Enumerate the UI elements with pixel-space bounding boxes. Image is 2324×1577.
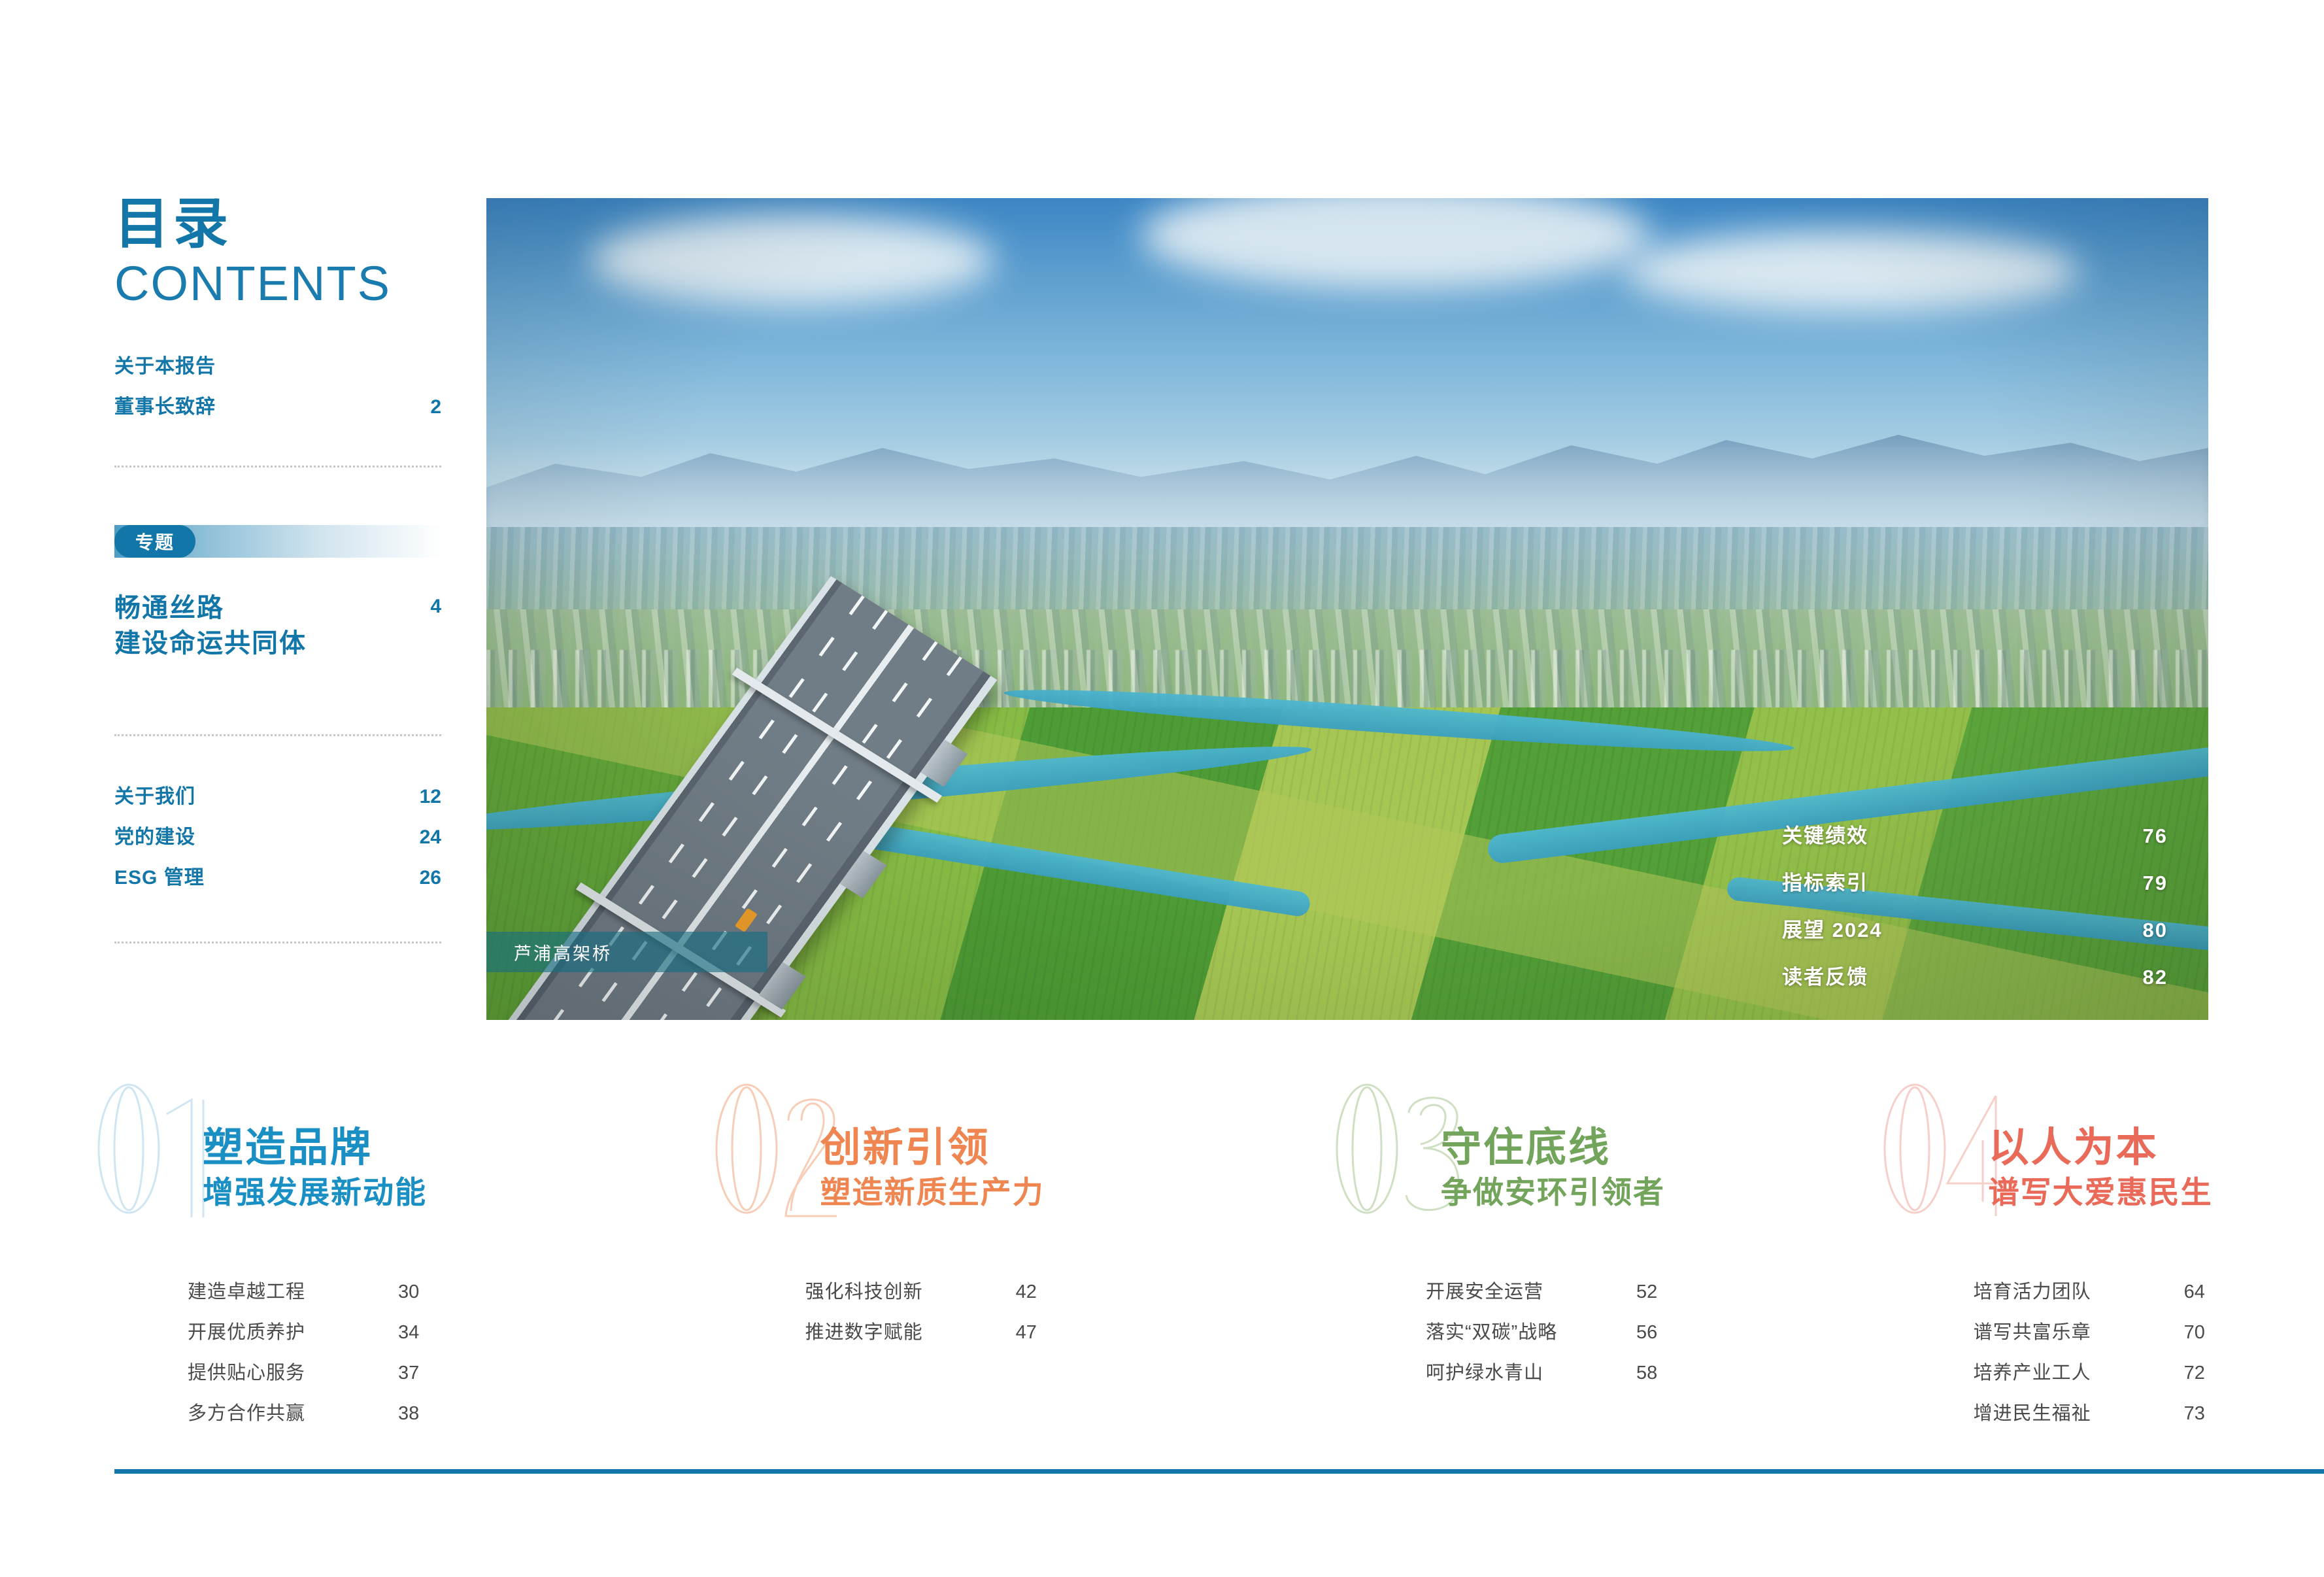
chapter-title: 塑造品牌 [203,1126,732,1171]
chapter-item-page: 72 [2184,1364,2205,1383]
topic-entry-lines: 畅通丝路 建设命运共同体 [114,590,307,661]
toc-entry-esg-management[interactable]: ESG 管理 26 [114,868,441,888]
chapter-item-page: 70 [2184,1323,2205,1342]
hero-entry-reader-feedback[interactable]: 读者反馈 82 [1782,960,2168,990]
chapter-title: 以人为本 [1989,1126,2265,1171]
hero-entry-label: 指标索引 [1782,866,1868,896]
toc-divider [114,734,441,736]
hero-entry-index[interactable]: 指标索引 79 [1782,866,2168,896]
chapter-item-label: 提供贴心服务 [188,1364,398,1383]
chapter-item[interactable]: 开展优质养护 34 [188,1323,732,1342]
toc-entry-chairman-message[interactable]: 董事长致辞 2 [114,398,441,417]
chapter-grid: 塑造品牌 增强发展新动能 建造卓越工程 30 开展优质养护 34 提供贴心服务 … [114,1085,2265,1445]
chapter-block-01: 塑造品牌 增强发展新动能 建造卓越工程 30 开展优质养护 34 提供贴心服务 … [114,1085,732,1445]
hero-entry-outlook-2024[interactable]: 展望 2024 80 [1782,913,2168,943]
toc-entry-label: ESG 管理 [114,868,205,888]
chapter-item[interactable]: 推进数字赋能 47 [805,1323,1353,1342]
toc-entry-about-report[interactable]: 关于本报告 [114,357,441,377]
chapter-item-label: 推进数字赋能 [805,1323,1016,1342]
chapter-item-label: 落实“双碳”战略 [1426,1323,1636,1342]
photo-caption-text: 芦浦高架桥 [514,940,612,965]
topic-entry-line1: 畅通丝路 [114,590,307,626]
chapter-item-page: 58 [1636,1364,1657,1383]
chapter-item[interactable]: 多方合作共赢 38 [188,1404,732,1423]
chapter-block-04: 以人为本 谱写大爱惠民生 培育活力团队 64 谱写共富乐章 70 培养产业工人 … [1900,1085,2265,1445]
hero-entry-label: 读者反馈 [1782,960,1868,990]
page-title-cn: 目录 [114,196,441,254]
chapter-item-label: 开展安全运营 [1426,1283,1636,1302]
chapter-subtitle: 争做安环引领者 [1441,1175,1900,1212]
toc-entry-page: 24 [420,828,441,847]
chapter-item-label: 强化科技创新 [805,1283,1016,1302]
chapter-item-page: 52 [1636,1283,1657,1302]
hero-entry-page: 76 [2143,824,2168,848]
chapter-item-page: 73 [2184,1404,2205,1423]
hero-entry-label: 展望 2024 [1782,913,1883,943]
chapter-item[interactable]: 培养产业工人 72 [1974,1364,2265,1383]
chapter-item-page: 37 [398,1364,419,1383]
chapter-item-list-02: 强化科技创新 42 推进数字赋能 47 [732,1283,1353,1342]
chapter-item-label: 开展优质养护 [188,1323,398,1342]
page-title-en: CONTENTS [114,258,441,310]
chapter-subtitle: 塑造新质生产力 [820,1175,1353,1212]
chapter-subtitle: 谱写大爱惠民生 [1989,1175,2265,1212]
chapter-heading-02: 创新引领 塑造新质生产力 [732,1085,1353,1212]
chapter-item-label: 培育活力团队 [1974,1283,2184,1302]
cloud-shape [1623,231,2080,313]
chapter-item-list-03: 开展安全运营 52 落实“双碳”战略 56 呵护绿水青山 58 [1353,1283,1900,1383]
chapter-item-page: 30 [398,1283,419,1302]
chapter-item-page: 34 [398,1323,419,1342]
special-topic-badge: 专题 [114,525,441,563]
chapter-item-label: 多方合作共赢 [188,1404,398,1423]
chapter-item-page: 47 [1016,1323,1037,1342]
toc-entry-label: 关于我们 [114,787,195,807]
toc-entry-about-us[interactable]: 关于我们 12 [114,787,441,807]
chapter-heading-04: 以人为本 谱写大爱惠民生 [1900,1085,2265,1212]
chapter-title: 创新引领 [820,1126,1353,1171]
toc-entry-special-topic[interactable]: 畅通丝路 建设命运共同体 4 [114,590,441,661]
topic-pill-label: 专题 [114,525,195,558]
chapter-item[interactable]: 增进民生福祉 73 [1974,1404,2265,1423]
chapter-item-list-04: 培育活力团队 64 谱写共富乐章 70 培养产业工人 72 增进民生福祉 73 [1900,1283,2265,1423]
toc-entry-label: 董事长致辞 [114,398,216,417]
toc-top-group: 关于本报告 董事长致辞 2 [114,357,441,417]
chapter-item[interactable]: 开展安全运营 52 [1426,1283,1900,1302]
hero-entry-page: 80 [2143,919,2168,942]
chapter-item-page: 38 [398,1404,419,1423]
cloud-shape [590,214,995,306]
chapter-title: 守住底线 [1441,1126,1900,1171]
chapter-item-label: 谱写共富乐章 [1974,1323,2184,1342]
toc-entry-page: 12 [420,787,441,807]
table-of-contents: 目录 CONTENTS 关于本报告 董事长致辞 2 专题 畅通丝路 建设命运共同… [114,196,441,943]
toc-entry-page: 26 [420,868,441,888]
hero-entry-label: 关键绩效 [1782,819,1868,849]
chapter-item-label: 建造卓越工程 [188,1283,398,1302]
toc-entry-page: 2 [430,398,441,417]
chapter-subtitle: 增强发展新动能 [203,1175,732,1212]
chapter-item[interactable]: 建造卓越工程 30 [188,1283,732,1302]
chapter-item-page: 64 [2184,1283,2205,1302]
hero-overlay-toc-list: 关键绩效 76 指标索引 79 展望 2024 80 读者反馈 82 [1782,819,2168,990]
chapter-item[interactable]: 培育活力团队 64 [1974,1283,2265,1302]
hero-entry-page: 82 [2143,966,2168,989]
topic-entry-page: 4 [430,590,441,618]
chapter-item-page: 42 [1016,1283,1037,1302]
topic-entry-line2: 建设命运共同体 [114,626,307,661]
footer-rule [114,1469,2324,1474]
toc-entry-party-building[interactable]: 党的建设 24 [114,828,441,847]
chapter-heading-03: 守住底线 争做安环引领者 [1353,1085,1900,1212]
toc-divider [114,941,441,943]
chapter-heading-01: 塑造品牌 增强发展新动能 [114,1085,732,1212]
toc-entry-label: 党的建设 [114,828,195,847]
chapter-item-list-01: 建造卓越工程 30 开展优质养护 34 提供贴心服务 37 多方合作共赢 38 [114,1283,732,1423]
chapter-item-page: 56 [1636,1323,1657,1342]
chapter-item[interactable]: 谱写共富乐章 70 [1974,1323,2265,1342]
chapter-block-02: 创新引领 塑造新质生产力 强化科技创新 42 推进数字赋能 47 [732,1085,1353,1445]
toc-divider [114,466,441,467]
chapter-item[interactable]: 提供贴心服务 37 [188,1364,732,1383]
toc-mid-group: 关于我们 12 党的建设 24 ESG 管理 26 [114,787,441,888]
hero-entry-key-performance[interactable]: 关键绩效 76 [1782,819,2168,849]
hero-entry-page: 79 [2143,872,2168,895]
chapter-item-label: 培养产业工人 [1974,1364,2184,1383]
chapter-item-label: 增进民生福祉 [1974,1404,2184,1423]
chapter-item[interactable]: 呵护绿水青山 58 [1426,1364,1900,1383]
hero-photo-aerial-highway: 芦浦高架桥 关键绩效 76 指标索引 79 展望 2024 80 读者反馈 82 [486,198,2208,1020]
chapter-item[interactable]: 落实“双碳”战略 56 [1426,1323,1900,1342]
chapter-block-03: 守住底线 争做安环引领者 开展安全运营 52 落实“双碳”战略 56 呵护绿水青… [1353,1085,1900,1445]
chapter-item-label: 呵护绿水青山 [1426,1364,1636,1383]
chapter-item[interactable]: 强化科技创新 42 [805,1283,1353,1302]
photo-caption-bar: 芦浦高架桥 [486,932,767,972]
toc-entry-label: 关于本报告 [114,357,216,377]
